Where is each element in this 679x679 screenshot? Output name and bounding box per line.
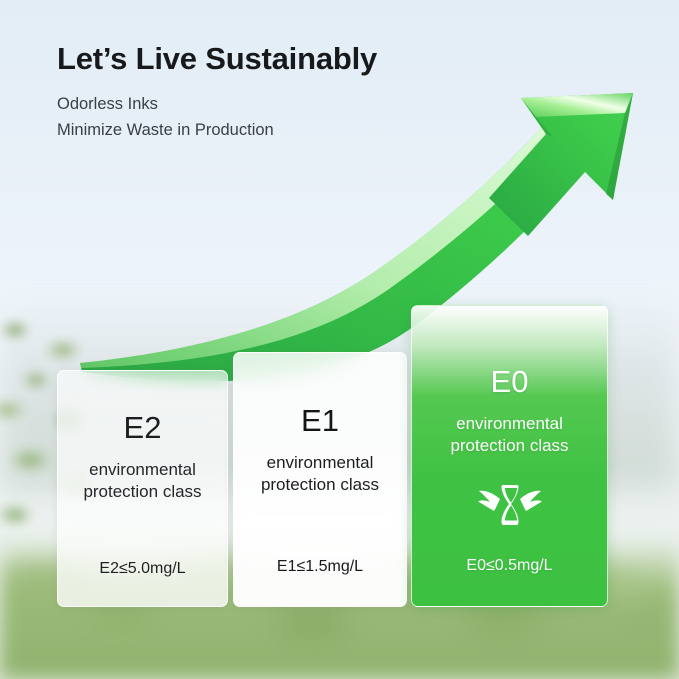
grade-class-line-1: environmental: [450, 413, 568, 435]
grade-class-line-1: environmental: [83, 459, 201, 481]
grade-value-label: E2≤5.0mg/L: [99, 561, 185, 577]
grade-level-label: E2: [124, 412, 162, 443]
grade-card-e1[interactable]: E1 environmental protection class E1≤1.5…: [233, 352, 407, 607]
grade-class-label: environmental protection class: [450, 413, 568, 457]
grade-level-label: E0: [491, 366, 529, 397]
heading-block: Let’s Live Sustainably Odorless Inks Min…: [57, 42, 377, 143]
grade-class-line-2: protection class: [261, 474, 379, 496]
grade-value-label: E1≤1.5mg/L: [277, 559, 363, 575]
grade-class-label: environmental protection class: [83, 459, 201, 503]
subtitle-line-2: Minimize Waste in Production: [57, 118, 377, 144]
winged-hourglass-icon: [478, 482, 542, 528]
grade-card-e2[interactable]: E2 environmental protection class E2≤5.0…: [57, 370, 228, 607]
grade-card-e0[interactable]: E0 environmental protection class E0≤0.5…: [411, 305, 608, 607]
grade-value-label: E0≤0.5mg/L: [466, 558, 552, 574]
grade-class-label: environmental protection class: [261, 452, 379, 496]
grade-level-label: E1: [301, 405, 339, 436]
page-title: Let’s Live Sustainably: [57, 42, 377, 76]
subtitle-line-1: Odorless Inks: [57, 92, 377, 118]
grade-class-line-2: protection class: [450, 435, 568, 457]
grade-class-line-2: protection class: [83, 481, 201, 503]
infographic-canvas: Let’s Live Sustainably Odorless Inks Min…: [0, 0, 679, 679]
grade-class-line-1: environmental: [261, 452, 379, 474]
